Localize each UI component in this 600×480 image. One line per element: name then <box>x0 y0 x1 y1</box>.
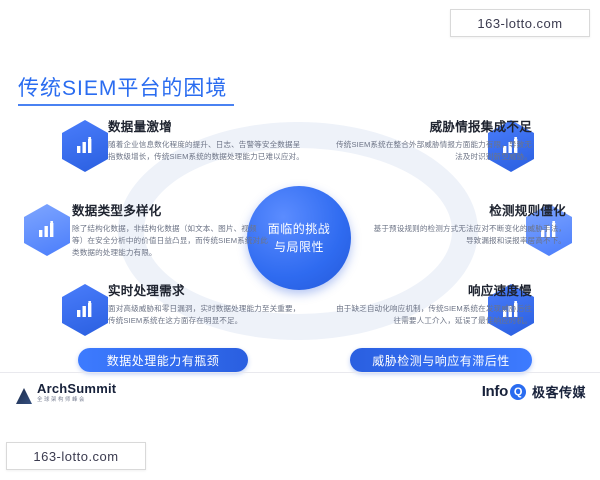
challenge-body: 随着企业信息数化程度的提升、日志、告警等安全数据呈指数级增长，传统SIEM系统的… <box>108 139 304 163</box>
archsummit-name: ArchSummit <box>37 382 116 396</box>
watermark-top: 163-lotto.com <box>450 9 590 37</box>
challenge-heading: 威胁情报集成不足 <box>336 116 532 135</box>
watermark-bottom: 163-lotto.com <box>6 442 146 470</box>
challenge-item-0: 数据量激增 随着企业信息数化程度的提升、日志、告警等安全数据呈指数级增长，传统S… <box>108 116 304 163</box>
footer-divider <box>0 372 600 373</box>
hexagon-badge-2 <box>62 284 108 336</box>
challenge-heading: 数据量激增 <box>108 116 304 135</box>
challenge-item-4: 检测规则僵化 基于预设规则的检测方式无法应对不断变化的威胁手法，导致漏报和误报率… <box>370 200 566 247</box>
archsummit-subtitle: 全球架构师峰会 <box>37 396 116 404</box>
summary-pill-right: 威胁检测与响应有滞后性 <box>350 348 532 372</box>
bar-chart-icon <box>75 301 95 319</box>
infoq-name: Info <box>482 383 508 400</box>
challenge-heading: 检测规则僵化 <box>370 200 566 219</box>
page-title: 传统SIEM平台的困境 <box>18 72 227 102</box>
bar-chart-icon <box>75 137 95 155</box>
challenge-item-2: 实时处理需求 面对高级威胁和零日漏洞，实时数据处理能力至关重要，传统SIEM系统… <box>108 280 304 327</box>
summary-pill-left: 数据处理能力有瓶颈 <box>78 348 248 372</box>
challenge-body: 基于预设规则的检测方式无法应对不断变化的威胁手法，导致漏报和误报率居高不下。 <box>370 223 566 247</box>
infoq-q-badge: Q <box>510 384 526 400</box>
challenge-heading: 数据类型多样化 <box>72 200 268 219</box>
challenge-body: 面对高级威胁和零日漏洞，实时数据处理能力至关重要，传统SIEM系统在这方面存在明… <box>108 303 304 327</box>
bar-chart-icon <box>37 221 57 239</box>
challenge-body: 除了结构化数据，非结构化数据（如文本、图片、视频等）在安全分析中的价值日益凸显，… <box>72 223 268 259</box>
challenge-body: 传统SIEM系统在整合外部威胁情报方面能力有限，导致无法及时识别新型威胁。 <box>336 139 532 163</box>
infoq-logo: Info Q 极客传媒 <box>482 382 586 401</box>
challenge-item-5: 响应速度慢 由于缺乏自动化响应机制，传统SIEM系统在发现威胁后往往需要人工介入… <box>336 280 532 327</box>
hexagon-badge-0 <box>62 120 108 172</box>
archsummit-logo: ArchSummit 全球架构师峰会 <box>16 382 116 404</box>
challenge-item-3: 威胁情报集成不足 传统SIEM系统在整合外部威胁情报方面能力有限，导致无法及时识… <box>336 116 532 163</box>
geekmedia-name: 极客传媒 <box>532 382 586 401</box>
challenge-heading: 响应速度慢 <box>336 280 532 299</box>
title-underline <box>18 104 234 106</box>
triangle-mark-icon <box>16 388 32 404</box>
challenge-body: 由于缺乏自动化响应机制，传统SIEM系统在发现威胁后往往需要人工介入，延误了最佳… <box>336 303 532 327</box>
hub-line-1: 面临的挑战 <box>268 220 331 238</box>
hub-line-2: 与局限性 <box>274 238 324 256</box>
challenge-item-1: 数据类型多样化 除了结构化数据，非结构化数据（如文本、图片、视频等）在安全分析中… <box>72 200 268 259</box>
slide-canvas: 163-lotto.com 传统SIEM平台的困境 面临的挑战 与局限性 <box>0 0 600 480</box>
challenge-heading: 实时处理需求 <box>108 280 304 299</box>
hexagon-badge-1 <box>24 204 70 256</box>
